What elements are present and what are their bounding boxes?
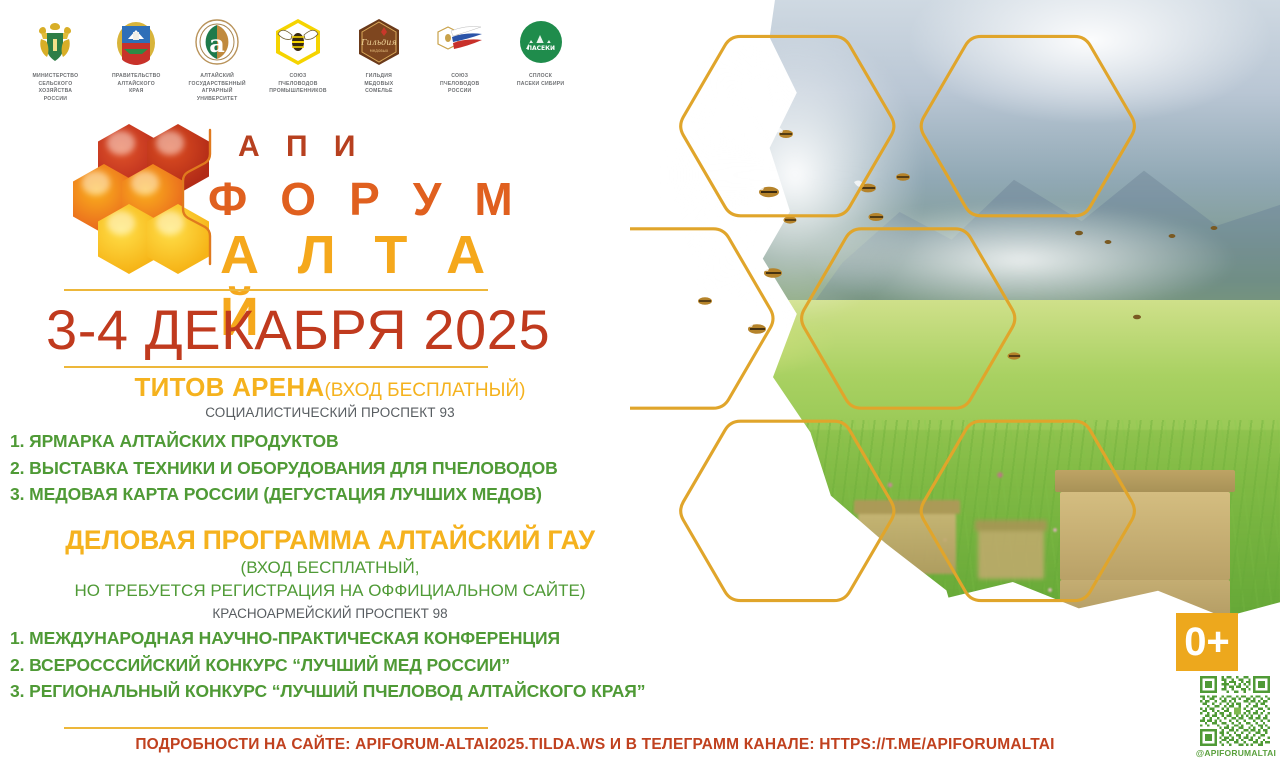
partner-ministry-of-agriculture: МИНИСТЕРСТВОСЕЛЬСКОГОХОЗЯЙСТВАРОССИИ [18,16,93,104]
svg-text:медовых: медовых [370,48,389,53]
event-date: 3-4 ДЕКАБРЯ 2025 [46,297,566,362]
partner-agrarian-university: а АЛТАЙСКИЙГОСУДАРСТВЕННЫЙАГРАРНЫЙУНИВЕР… [180,16,255,104]
partner-caption: СОЮЗПЧЕЛОВОДОВРОССИИ [422,73,497,96]
partner-logos: МИНИСТЕРСТВОСЕЛЬСКОГОХОЗЯЙСТВАРОССИИ ПРА… [18,16,578,104]
footer-details: ПОДРОБНОСТИ НА САЙТЕ: APIFORUM-ALTAI2025… [0,736,1190,754]
business-program-title: ДЕЛОВАЯ ПРОГРАММА АЛТАЙСКИЙ ГАУ [0,525,660,556]
list-item: 2. ВЫСТАВКА ТЕХНИКИ И ОБОРУДОВАНИЯ ДЛЯ П… [10,455,670,482]
fair-program-list: 1. ЯРМАРКА АЛТАЙСКИХ ПРОДУКТОВ 2. ВЫСТАВ… [10,428,670,508]
svg-text:ПАСЕКИ: ПАСЕКИ [527,45,555,52]
russia-beekeepers-union-icon [422,16,497,68]
list-item: 1. МЕЖДУНАРОДНАЯ НАУЧНО-ПРАКТИЧЕСКАЯ КОН… [10,625,670,652]
list-item: 3. МЕДОВАЯ КАРТА РОССИИ (ДЕГУСТАЦИЯ ЛУЧШ… [10,481,670,508]
list-item: 3. РЕГИОНАЛЬНЫЙ КОНКУРС “ЛУЧШИЙ ПЧЕЛОВОД… [10,678,670,705]
qr-code[interactable] [1200,676,1270,746]
partner-siberia-apiaries: ПАСЕКИ СПЛОСКПАСЕКИ СИБИРИ [503,16,578,88]
logo-line-forum: Ф О Р У М [208,172,523,226]
logo-line-api: А П И [238,130,364,164]
coat-of-arms-icon [18,16,93,68]
age-rating-badge: 0+ [1176,613,1238,671]
partner-caption: ПРАВИТЕЛЬСТВОАЛТАЙСКОГОКРАЯ [99,73,174,96]
partner-caption: СОЮЗПЧЕЛОВОДОВПРОМЫШЛЕННИКОВ [261,73,336,96]
venue-address: СОЦИАЛИСТИЧЕСКИЙ ПРОСПЕКТ 93 [0,405,660,420]
divider-above-footer [64,727,488,729]
honeycomb-logo-mark [60,124,200,274]
business-program-list: 1. МЕЖДУНАРОДНАЯ НАУЧНО-ПРАКТИЧЕСКАЯ КОН… [10,625,670,705]
honey-sommelier-guild-icon: Гильдия медовых [341,16,416,68]
poster-content: МИНИСТЕРСТВОСЕЛЬСКОГОХОЗЯЙСТВАРОССИИ ПРА… [0,0,680,768]
beekeepers-union-icon [261,16,336,68]
svg-text:Гильдия: Гильдия [360,38,396,47]
venue-block: ТИТОВ АРЕНА(ВХОД БЕСПЛАТНЫЙ) СОЦИАЛИСТИЧ… [0,372,660,420]
partner-caption: МИНИСТЕРСТВОСЕЛЬСКОГОХОЗЯЙСТВАРОССИИ [18,73,93,104]
event-logo: А П И Ф О Р У М А Л Т А Й [60,124,540,274]
siberia-apiaries-icon: ПАСЕКИ [503,16,578,68]
partner-caption: АЛТАЙСКИЙГОСУДАРСТВЕННЫЙАГРАРНЫЙУНИВЕРСИ… [180,73,255,104]
venue-entry-note: (ВХОД БЕСПЛАТНЫЙ) [324,380,525,401]
svg-text:а: а [209,29,225,58]
qr-handle-label: @APIFORUMALTAI [1186,748,1280,758]
partner-beekeepers-industrialists-union: СОЮЗПЧЕЛОВОДОВПРОМЫШЛЕННИКОВ [261,16,336,96]
altai-krai-emblem-icon [99,16,174,68]
divider-above-date [64,289,488,291]
list-item: 2. ВСЕРОСССИЙСКИЙ КОНКУРС “ЛУЧШИЙ МЕД РО… [10,652,670,679]
honeycomb-outline-trace [60,124,220,279]
partner-caption: ГИЛЬДИЯМЕДОВЫХСОМЕЛЬЕ [341,73,416,96]
venue-name: ТИТОВ АРЕНА [135,372,325,402]
partner-honey-sommelier-guild: Гильдия медовых ГИЛЬДИЯМЕДОВЫХСОМЕЛЬЕ [341,16,416,96]
business-address: КРАСНОАРМЕЙСКИЙ ПРОСПЕКТ 98 [0,606,660,621]
agrarian-university-icon: а [180,16,255,68]
business-entry-note-line1: (ВХОД БЕСПЛАТНЫЙ, [0,558,660,579]
partner-altai-krai-government: ПРАВИТЕЛЬСТВОАЛТАЙСКОГОКРАЯ [99,16,174,96]
business-entry-note-line2: НО ТРЕБУЕТСЯ РЕГИСТРАЦИЯ НА ОФФИЦИАЛЬНОМ… [0,581,660,602]
partner-caption: СПЛОСКПАСЕКИ СИБИРИ [503,73,578,88]
business-program-block: ДЕЛОВАЯ ПРОГРАММА АЛТАЙСКИЙ ГАУ (ВХОД БЕ… [0,525,660,621]
partner-russia-beekeepers-union: СОЮЗПЧЕЛОВОДОВРОССИИ [422,16,497,96]
divider-below-date [64,366,488,368]
list-item: 1. ЯРМАРКА АЛТАЙСКИХ ПРОДУКТОВ [10,428,670,455]
